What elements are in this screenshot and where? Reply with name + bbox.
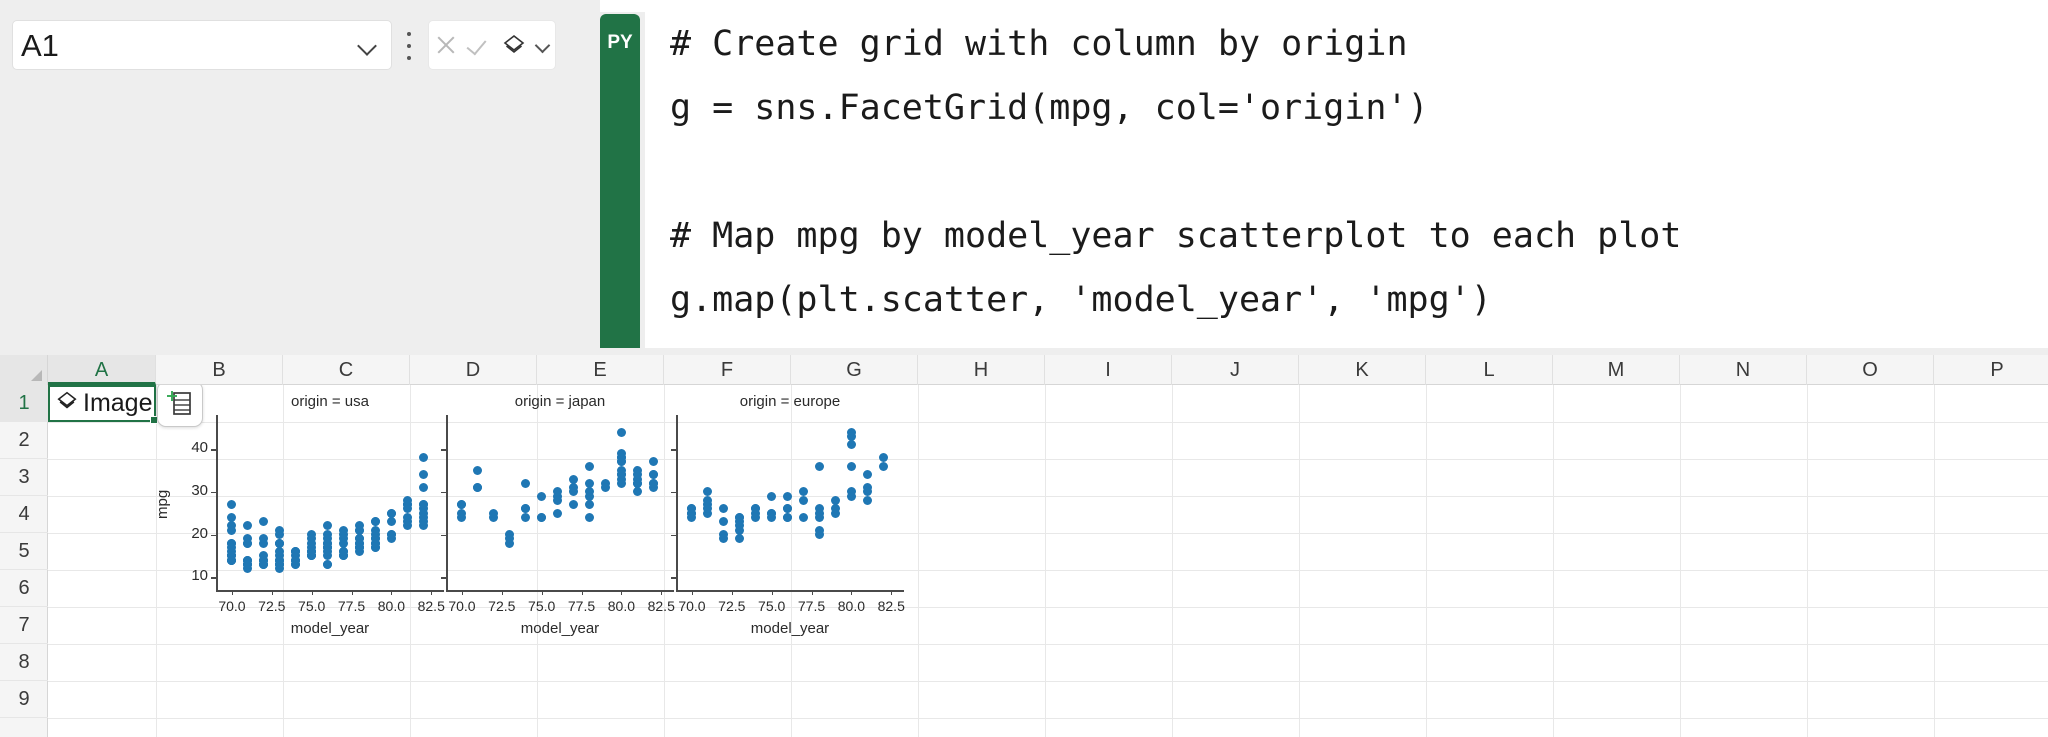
scatter-point [259,517,268,526]
x-axis-spine [676,590,904,592]
scatter-point [521,513,530,522]
y-tick [211,577,216,578]
column-header-row: ABCDEFGHIJKLMNOP [0,355,2048,385]
column-header-b[interactable]: B [156,355,283,385]
x-tick [851,590,852,595]
x-tick [582,590,583,595]
scatter-point [863,496,872,505]
y-tick [211,535,216,536]
scatter-point [863,487,872,496]
x-tick [732,590,733,595]
scatter-point [419,500,428,509]
y-tick-label: 20 [170,525,208,542]
column-header-f[interactable]: F [664,355,791,385]
grid-line [1299,385,1300,737]
scatter-point [799,513,808,522]
scatter-point [719,504,728,513]
row-header-9[interactable]: 9 [0,681,48,718]
scatter-point [585,462,594,471]
scatter-point [649,479,658,488]
scatter-point [831,496,840,505]
scatter-point [617,453,626,462]
scatter-point [419,470,428,479]
scatter-point [291,556,300,565]
scatter-point [355,526,364,535]
facet-title: origin = usa [216,393,444,410]
kebab-menu-icon[interactable] [405,32,413,60]
x-tick [661,590,662,595]
scatter-point [227,526,236,535]
row-header-3[interactable]: 3 [0,459,48,496]
x-axis-label: model_year [446,620,674,637]
column-header-o[interactable]: O [1807,355,1934,385]
scatter-point [537,492,546,501]
code-line [645,140,2048,204]
x-tick [812,590,813,595]
x-axis-label: model_year [216,620,444,637]
scatter-point [783,492,792,501]
scatter-point [403,496,412,505]
y-axis-spine [676,415,678,590]
scatter-point [227,500,236,509]
y-tick [211,492,216,493]
y-tick-label: 10 [170,567,208,584]
scatter-point [419,513,428,522]
column-header-e[interactable]: E [537,355,664,385]
x-tick [772,590,773,595]
scatter-point [799,487,808,496]
spreadsheet-app: A1 PY # Create grid with column by origi… [0,0,2048,737]
scatter-point [521,479,530,488]
scatter-point [387,517,396,526]
scatter-point [323,560,332,569]
formula-action-group [428,20,556,70]
scatter-point [489,509,498,518]
grid-line [1553,385,1554,737]
scatter-point [703,487,712,496]
layers-diamond-icon [55,389,79,418]
scatter-point [553,496,562,505]
scatter-point [815,509,824,518]
scatter-point [847,492,856,501]
x-axis-spine [446,590,674,592]
code-line: g.map(plt.scatter, 'model_year', 'mpg') [645,268,2048,332]
column-header-h[interactable]: H [918,355,1045,385]
formula-bar-area: A1 PY # Create grid with column by origi… [0,0,2048,355]
row-header-2[interactable]: 2 [0,422,48,459]
scatter-point [719,517,728,526]
scatter-point [371,517,380,526]
row-header-1[interactable]: 1 [0,385,48,422]
close-x-icon[interactable] [433,32,459,58]
scatter-point [243,521,252,530]
scatter-point [537,513,546,522]
scatter-point [275,526,284,535]
scatter-point [783,513,792,522]
x-tick [542,590,543,595]
x-tick [502,590,503,595]
topbar-white-strip [600,0,2048,12]
grid-line [1807,385,1808,737]
layers-diamond-icon[interactable] [501,32,527,58]
scatter-point [783,504,792,513]
x-tick [272,590,273,595]
name-box[interactable]: A1 [12,20,392,70]
grid-line [1934,385,1935,737]
row-header-4[interactable]: 4 [0,496,48,533]
column-header-g[interactable]: G [791,355,918,385]
row-header-column: 123456789 [0,385,48,737]
x-tick [621,590,622,595]
scatter-point [815,530,824,539]
x-tick [232,590,233,595]
spreadsheet-grid: ABCDEFGHIJKLMNOP 123456789 Image [0,355,2048,737]
scatter-point [473,466,482,475]
scatter-point [553,509,562,518]
scatter-point [419,483,428,492]
x-axis-label: model_year [676,620,904,637]
scatter-point [767,509,776,518]
scatter-point [387,530,396,539]
x-tick [352,590,353,595]
scatter-point [815,462,824,471]
scatter-point [339,526,348,535]
check-icon[interactable] [467,32,493,58]
y-tick-label: 30 [170,482,208,499]
y-tick [671,577,676,578]
scatter-point [521,504,530,513]
x-tick [891,590,892,595]
grid-line [48,644,2048,645]
x-tick-label: 82.5 [865,598,917,614]
scatter-point [473,483,482,492]
scatter-point [847,462,856,471]
scatter-point [585,500,594,509]
chevron-down-icon[interactable] [357,34,379,56]
y-axis-spine [446,415,448,590]
scatter-point [419,453,428,462]
scatter-point [751,513,760,522]
code-line: # Create grid with column by origin [645,12,2048,76]
scatter-point [879,462,888,471]
cell-a1-value: Image [83,389,152,418]
y-tick [441,492,446,493]
grid-cells-area[interactable]: Image origin = usa70.072.575.077.580.082… [48,385,2048,737]
scatter-point [227,556,236,565]
column-header-a[interactable]: A [48,355,156,385]
scatter-point [585,479,594,488]
scatter-point [879,453,888,462]
code-line: g = sns.FacetGrid(mpg, col='origin') [645,76,2048,140]
x-tick [391,590,392,595]
scatter-point [585,492,594,501]
facet-title: origin = europe [676,393,904,410]
scatter-point [617,428,626,437]
scatter-point [355,543,364,552]
code-line: # Map mpg by model_year scatterplot to e… [645,204,2048,268]
y-tick [441,577,446,578]
python-badge-label: PY [600,32,640,54]
scatter-point [799,496,808,505]
scatter-point [243,539,252,548]
scatter-point [633,487,642,496]
column-header-d[interactable]: D [410,355,537,385]
x-tick [312,590,313,595]
y-tick-label: 40 [170,439,208,456]
y-tick [671,492,676,493]
cell-a1[interactable]: Image [48,385,156,422]
scatter-point [735,534,744,543]
grid-line [48,681,2048,682]
scatter-point [403,513,412,522]
scatter-point [863,470,872,479]
row-header-6[interactable]: 6 [0,570,48,607]
python-badge: PY [600,14,640,348]
scatter-point [387,509,396,518]
scatter-point [403,504,412,513]
chevron-down-icon[interactable] [535,37,551,53]
column-header-p[interactable]: P [1934,355,2048,385]
column-header-j[interactable]: J [1172,355,1299,385]
scatter-point [275,539,284,548]
y-tick [671,449,676,450]
column-header-c[interactable]: C [283,355,410,385]
grid-line [48,718,2048,719]
scatter-point [649,457,658,466]
y-axis-spine [216,415,218,590]
scatter-point [617,479,626,488]
scatter-point [601,483,610,492]
scatter-point [649,470,658,479]
column-header-i[interactable]: I [1045,355,1172,385]
grid-line [1172,385,1173,737]
y-tick [441,449,446,450]
column-header-m[interactable]: M [1553,355,1680,385]
x-axis-spine [216,590,444,592]
row-header-5[interactable]: 5 [0,533,48,570]
x-tick [462,590,463,595]
y-tick [671,535,676,536]
row-header-7[interactable]: 7 [0,607,48,644]
scatter-point [259,560,268,569]
scatter-point [847,440,856,449]
facet-title: origin = japan [446,393,674,410]
scatter-point [457,500,466,509]
column-header-k[interactable]: K [1299,355,1426,385]
y-tick [211,449,216,450]
name-box-value: A1 [21,30,357,61]
scatter-point [719,534,728,543]
grid-line [1045,385,1046,737]
y-axis-label: mpg [154,489,171,518]
y-tick [441,535,446,536]
column-header-l[interactable]: L [1426,355,1553,385]
grid-line [1426,385,1427,737]
scatter-point [767,492,776,501]
x-tick [431,590,432,595]
select-all-corner[interactable] [0,355,48,385]
facet-grid-chart: origin = usa70.072.575.077.580.082.51020… [156,387,996,635]
row-header-8[interactable]: 8 [0,644,48,681]
column-header-n[interactable]: N [1680,355,1807,385]
scatter-point [569,500,578,509]
x-tick [692,590,693,595]
scatter-point [585,513,594,522]
python-code-editor[interactable]: # Create grid with column by origin g = … [645,12,2048,348]
grid-line [1680,385,1681,737]
